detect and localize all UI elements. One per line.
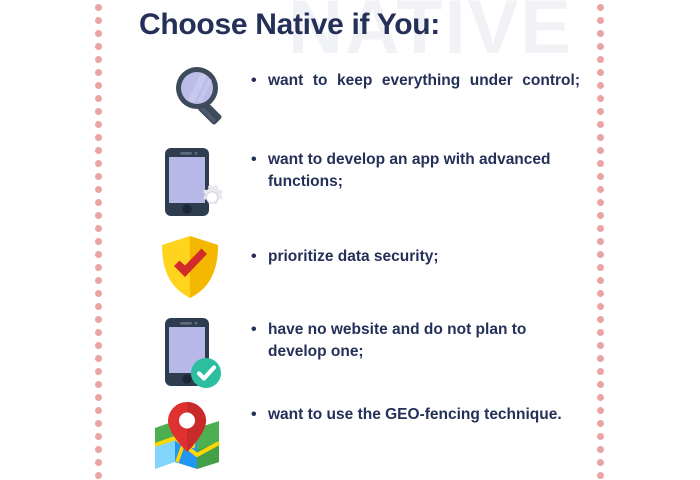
divider-dot [95, 186, 102, 193]
divider-dot [597, 199, 604, 206]
divider-dot [95, 368, 102, 375]
divider-dot [597, 316, 604, 323]
list-item-label: want to keep everything under control; [268, 70, 580, 115]
divider-dot [597, 355, 604, 362]
divider-dot [597, 329, 604, 336]
phone-gear-icon [140, 137, 240, 227]
divider-dot [95, 394, 102, 401]
list-item-text-wrapper: have no website and do not plan to devel… [250, 319, 580, 364]
divider-dot [95, 420, 102, 427]
divider-dot [597, 4, 604, 11]
infographic-canvas: NATIVE Choose Native if You: want to kee… [0, 0, 700, 480]
divider-dot [95, 381, 102, 388]
divider-dot [597, 173, 604, 180]
phone-check-icon [140, 307, 240, 397]
divider-dot [597, 43, 604, 50]
divider-dot [95, 472, 102, 479]
divider-dot [95, 446, 102, 453]
divider-dot [95, 173, 102, 180]
divider-dot [597, 368, 604, 375]
divider-dot [95, 160, 102, 167]
divider-dot [597, 147, 604, 154]
divider-dot [95, 56, 102, 63]
page-title: Choose Native if You: [139, 8, 440, 42]
divider-dot [597, 225, 604, 232]
divider-dot [95, 82, 102, 89]
divider-dot [597, 121, 604, 128]
divider-dot [597, 212, 604, 219]
divider-dot [597, 69, 604, 76]
divider-dot [597, 160, 604, 167]
divider-dot [95, 212, 102, 219]
right-dotted-divider [597, 0, 605, 480]
divider-dot [597, 95, 604, 102]
divider-dot [95, 342, 102, 349]
divider-dot [95, 329, 102, 336]
divider-dot [95, 407, 102, 414]
divider-dot [597, 342, 604, 349]
divider-dot [597, 277, 604, 284]
list-item-label: prioritize data security; [268, 246, 580, 268]
divider-dot [95, 4, 102, 11]
divider-dot [95, 251, 102, 258]
divider-dot [95, 147, 102, 154]
divider-dot [95, 95, 102, 102]
divider-dot [95, 43, 102, 50]
divider-dot [95, 355, 102, 362]
divider-dot [95, 225, 102, 232]
divider-dot [597, 56, 604, 63]
divider-dot [597, 459, 604, 466]
divider-dot [597, 82, 604, 89]
list-item-label: have no website and do not plan to devel… [268, 319, 580, 364]
divider-dot [597, 472, 604, 479]
divider-dot [95, 290, 102, 297]
list-item-text-wrapper: prioritize data security; [250, 246, 580, 268]
divider-dot [95, 238, 102, 245]
divider-dot [597, 108, 604, 115]
divider-dot [597, 251, 604, 258]
list-item-text-wrapper: want to use the GEO-fencing technique. [250, 404, 580, 426]
divider-dot [95, 264, 102, 271]
divider-dot [597, 381, 604, 388]
divider-dot [95, 433, 102, 440]
divider-dot [597, 446, 604, 453]
divider-dot [597, 420, 604, 427]
divider-dot [95, 69, 102, 76]
left-dotted-divider [95, 0, 103, 480]
divider-dot [95, 121, 102, 128]
divider-dot [597, 407, 604, 414]
divider-dot [95, 17, 102, 24]
divider-dot [95, 134, 102, 141]
divider-dot [597, 186, 604, 193]
divider-dot [597, 30, 604, 37]
divider-dot [95, 303, 102, 310]
divider-dot [597, 264, 604, 271]
list-item-label: want to develop an app with advanced fun… [268, 149, 580, 194]
divider-dot [95, 108, 102, 115]
list-item-text-wrapper: want to develop an app with advanced fun… [250, 149, 580, 194]
divider-dot [597, 290, 604, 297]
divider-dot [95, 199, 102, 206]
magnifying-glass-icon [140, 52, 240, 142]
divider-dot [95, 459, 102, 466]
map-pin-icon [140, 392, 240, 480]
divider-dot [597, 394, 604, 401]
divider-dot [597, 303, 604, 310]
divider-dot [95, 30, 102, 37]
divider-dot [597, 238, 604, 245]
list-item-label: want to use the GEO-fencing technique. [268, 404, 580, 426]
shield-check-icon [140, 222, 240, 312]
divider-dot [597, 17, 604, 24]
list-item-text-wrapper: want to keep everything under control; [250, 70, 580, 115]
divider-dot [95, 316, 102, 323]
divider-dot [597, 433, 604, 440]
divider-dot [597, 134, 604, 141]
divider-dot [95, 277, 102, 284]
